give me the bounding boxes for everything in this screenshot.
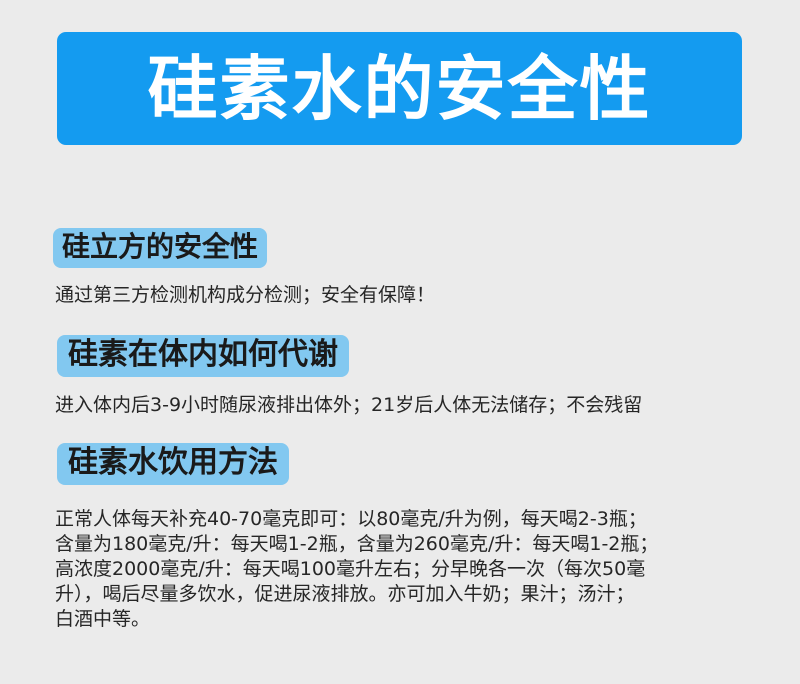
section-body-usage: 正常人体每天补充40-70毫克即可：以80毫克/升为例，每天喝2-3瓶； 含量为… [0, 507, 800, 632]
section-heading-wrap: 硅素在体内如何代谢 [0, 335, 800, 377]
section-heading-metabolism: 硅素在体内如何代谢 [57, 335, 349, 377]
section-usage: 硅素水饮用方法 正常人体每天补充40-70毫克即可：以80毫克/升为例，每天喝2… [0, 443, 800, 632]
section-heading-wrap: 硅立方的安全性 [0, 228, 800, 268]
title-banner: 硅素水的安全性 [57, 32, 742, 145]
section-body-safety: 通过第三方检测机构成分检测；安全有保障！ [0, 283, 800, 308]
section-heading-usage: 硅素水饮用方法 [57, 443, 289, 485]
page-title: 硅素水的安全性 [148, 54, 652, 124]
content-area: 硅立方的安全性 通过第三方检测机构成分检测；安全有保障！ 硅素在体内如何代谢 进… [0, 228, 800, 632]
section-heading-safety: 硅立方的安全性 [53, 228, 267, 268]
section-heading-wrap: 硅素水饮用方法 [0, 443, 800, 485]
section-metabolism: 硅素在体内如何代谢 进入体内后3-9小时随尿液排出体外；21岁后人体无法储存；不… [0, 335, 800, 418]
section-safety: 硅立方的安全性 通过第三方检测机构成分检测；安全有保障！ [0, 228, 800, 308]
infographic-page: 硅素水的安全性 硅立方的安全性 通过第三方检测机构成分检测；安全有保障！ 硅素在… [0, 0, 800, 684]
section-body-metabolism: 进入体内后3-9小时随尿液排出体外；21岁后人体无法储存；不会残留 [0, 393, 800, 418]
